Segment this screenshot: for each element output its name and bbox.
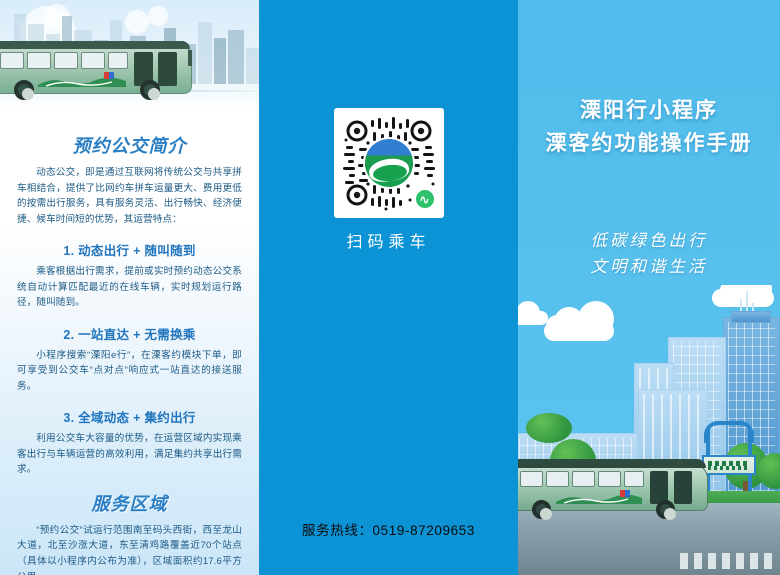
intro-section-body: 动态公交，即是通过互联网将传统公交与共享拼车相结合，提供了比网约车拼车运量更大、… <box>17 165 242 227</box>
feature-2-heading: 2. 一站直达 + 无需换乘 <box>17 324 242 343</box>
crosswalk-stripe <box>680 553 688 569</box>
bus-door <box>158 52 177 86</box>
cloud <box>544 321 614 341</box>
qr-caption: 扫码乘车 <box>259 228 518 252</box>
building-cap <box>731 311 771 323</box>
bus-roof <box>518 459 706 468</box>
qr-finder-top-left <box>348 122 366 140</box>
bus-roof <box>0 41 190 49</box>
bus-window <box>572 471 595 487</box>
bus-livery-svg <box>36 75 128 87</box>
slogan-line-2: 文明和谐生活 <box>518 254 780 280</box>
bus-wheel <box>532 500 551 519</box>
bus-window <box>598 471 621 487</box>
service-area-body: “预约公交”试运行范围南至码头西街，西至龙山大道，北至沙涨大道，东至清鸡路覆盖近… <box>17 523 242 575</box>
feature-3-heading: 3. 全域动态 + 集约出行 <box>17 407 242 426</box>
bus-wheel <box>140 80 160 100</box>
crosswalk-stripe <box>750 553 758 569</box>
crosswalk-stripe <box>736 553 744 569</box>
qr-finder-bottom-left <box>348 186 366 204</box>
skyline-building <box>246 48 259 88</box>
right-scene-illustration <box>518 285 780 575</box>
bus-illustration-right <box>518 455 724 521</box>
feature-1-heading: 1. 动态出行 + 随叫随到 <box>17 240 242 259</box>
sky-circle <box>148 6 168 26</box>
bus-window <box>624 471 644 487</box>
qr-code-pattern: ∿ <box>340 114 438 212</box>
bus-window <box>108 52 128 69</box>
title-line-2: 溧客约功能操作手册 <box>518 128 780 161</box>
crosswalk-stripe <box>694 553 702 569</box>
bus-window <box>81 52 105 69</box>
feature-2-body: 小程序搜索“溧阳e行”，在溧客约模块下单，即可享受到公交车“点对点”响应式一站直… <box>17 348 242 395</box>
cloud <box>518 311 548 325</box>
qr-finder-top-right <box>412 122 430 140</box>
slogan-line-1: 低碳绿色出行 <box>518 228 780 254</box>
bus-livery-graphic <box>36 74 128 86</box>
qr-code[interactable]: ∿ <box>334 108 444 218</box>
wechat-miniprogram-icon: ∿ <box>414 188 436 210</box>
bus-window <box>0 52 24 69</box>
right-panel: 溧阳行小程序 溧客约功能操作手册 低碳绿色出行 文明和谐生活 <box>518 0 780 575</box>
bus-illustration-left <box>0 38 210 100</box>
bus-flag-blue <box>109 72 114 79</box>
bus-livery-graphic <box>554 491 644 509</box>
bus-window <box>54 52 78 69</box>
bus-window <box>27 52 51 69</box>
brochure-slogan: 低碳绿色出行 文明和谐生活 <box>518 228 780 281</box>
middle-panel: ∿ 扫码乘车 服务热线：0519-87209653 <box>259 0 518 575</box>
bus-mirror <box>188 50 192 66</box>
trifold-brochure: 预约公交简介 动态公交，即是通过互联网将传统公交与共享拼车相结合，提供了比网约车… <box>0 0 780 575</box>
bus-livery-svg <box>554 491 644 504</box>
left-panel: 预约公交简介 动态公交，即是通过互联网将传统公交与共享拼车相结合，提供了比网约车… <box>0 0 259 575</box>
bus-wheel <box>14 80 34 100</box>
sky-circle <box>125 10 149 34</box>
service-area-title: 服务区域 <box>17 490 242 516</box>
service-hotline: 服务热线：0519-87209653 <box>259 519 518 539</box>
crosswalk-stripe <box>764 553 772 569</box>
bus-wheel <box>656 500 675 519</box>
bus-window <box>546 471 569 487</box>
feature-3-body: 利用公交车大容量的优势，在运营区域内实现乘客出行与车辆运营的高效利用，满足集约共… <box>17 431 242 478</box>
left-hero-illustration <box>0 0 259 126</box>
crosswalk-stripe <box>722 553 730 569</box>
brand-logo-icon <box>365 139 413 187</box>
bus-flag-blue <box>625 490 630 497</box>
cloud <box>712 289 774 307</box>
left-text-content: 预约公交简介 动态公交，即是通过互联网将传统公交与共享拼车相结合，提供了比网约车… <box>0 120 259 575</box>
bus-window <box>520 471 543 487</box>
bus-stop-arch <box>704 421 754 443</box>
title-line-1: 溧阳行小程序 <box>518 95 780 128</box>
skyline-building <box>214 38 226 88</box>
skyline-building <box>228 30 244 88</box>
crosswalk-stripe <box>708 553 716 569</box>
feature-1-body: 乘客根据出行需求，提前或实时预约动态公交系统自动计算匹配最近的在线车辆，实时规划… <box>17 264 242 311</box>
bus-door <box>674 471 692 504</box>
intro-section-title: 预约公交简介 <box>17 132 242 158</box>
brochure-title: 溧阳行小程序 溧客约功能操作手册 <box>518 95 780 160</box>
